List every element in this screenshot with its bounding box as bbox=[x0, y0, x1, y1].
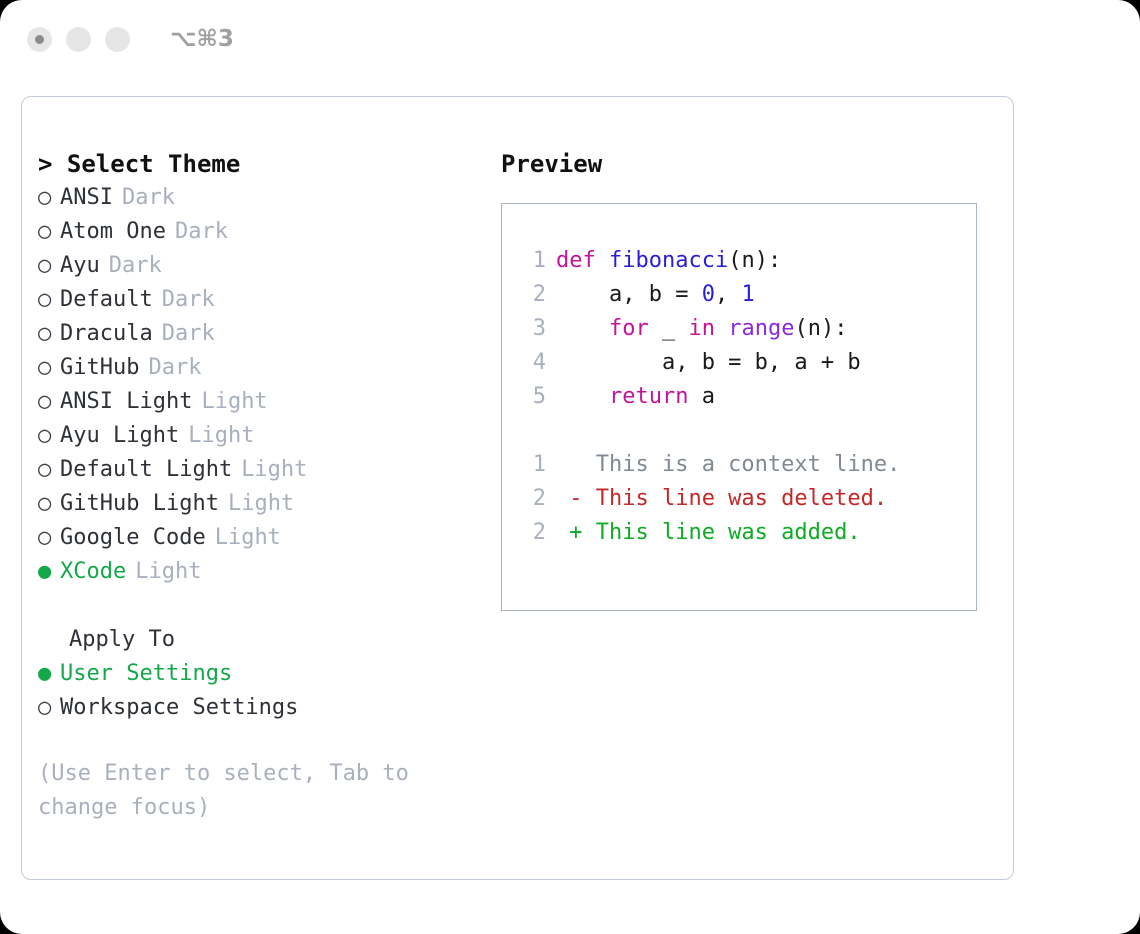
window-dot-3[interactable] bbox=[105, 27, 130, 52]
theme-variant-badge: Light bbox=[201, 385, 267, 419]
keyboard-hint: (Use Enter to select, Tab to change focu… bbox=[38, 757, 448, 825]
code-token: (n): bbox=[794, 316, 847, 341]
code-line: 1 This is a context line. bbox=[524, 448, 976, 482]
radio-unselected-icon: ○ bbox=[38, 351, 60, 385]
code-line: 2 - This line was deleted. bbox=[524, 482, 976, 516]
code-line-text: def fibonacci(n): bbox=[556, 244, 781, 278]
code-token: + This line was added. bbox=[556, 520, 861, 545]
theme-name: Ayu Light bbox=[60, 419, 179, 453]
apply-to-header: Apply To bbox=[38, 623, 488, 657]
line-number: 5 bbox=[524, 380, 546, 414]
theme-name: Google Code bbox=[60, 521, 206, 555]
code-line: 2 + This line was added. bbox=[524, 516, 976, 550]
code-token: , bbox=[715, 282, 742, 307]
theme-name: GitHub Light bbox=[60, 487, 219, 521]
theme-variant-badge: Dark bbox=[162, 283, 215, 317]
select-theme-header: > Select Theme bbox=[38, 147, 488, 181]
code-token: (n): bbox=[728, 248, 781, 273]
code-token: - This line was deleted. bbox=[556, 486, 887, 511]
theme-name: ANSI bbox=[60, 181, 113, 215]
radio-unselected-icon: ○ bbox=[38, 215, 60, 249]
line-number: 2 bbox=[524, 516, 546, 550]
code-blank-line bbox=[524, 414, 976, 448]
radio-unselected-icon: ○ bbox=[38, 181, 60, 215]
theme-name: XCode bbox=[60, 555, 126, 589]
window-dot-record[interactable] bbox=[27, 27, 52, 52]
theme-list-item[interactable]: ○Ayu LightLight bbox=[38, 419, 488, 453]
theme-variant-badge: Dark bbox=[148, 351, 201, 385]
radio-unselected-icon: ○ bbox=[38, 249, 60, 283]
line-number: 1 bbox=[524, 244, 546, 278]
theme-list: ○ANSIDark○Atom OneDark○AyuDark○DefaultDa… bbox=[38, 181, 488, 589]
radio-unselected-icon: ○ bbox=[38, 419, 60, 453]
theme-list-item[interactable]: ○DefaultDark bbox=[38, 283, 488, 317]
code-token bbox=[556, 384, 609, 409]
code-line-text: for _ in range(n): bbox=[556, 312, 847, 346]
theme-name: Default bbox=[60, 283, 153, 317]
theme-name: Atom One bbox=[60, 215, 166, 249]
code-line-text: This is a context line. bbox=[556, 448, 900, 482]
theme-list-item[interactable]: ○ANSIDark bbox=[38, 181, 488, 215]
shortcut-label: ⌥⌘3 bbox=[170, 26, 234, 52]
theme-selector-column: > Select Theme ○ANSIDark○Atom OneDark○Ay… bbox=[38, 147, 488, 825]
theme-list-item[interactable]: ○GitHubDark bbox=[38, 351, 488, 385]
line-number: 2 bbox=[524, 278, 546, 312]
theme-list-item[interactable]: ○AyuDark bbox=[38, 249, 488, 283]
code-token: return bbox=[609, 384, 688, 409]
code-token: 1 bbox=[741, 282, 754, 307]
code-line: 5 return a bbox=[524, 380, 976, 414]
code-token: range bbox=[728, 316, 794, 341]
theme-name: GitHub bbox=[60, 351, 139, 385]
window-dot-2[interactable] bbox=[66, 27, 91, 52]
code-token: def bbox=[556, 248, 596, 273]
theme-list-item[interactable]: ○GitHub LightLight bbox=[38, 487, 488, 521]
theme-variant-badge: Dark bbox=[175, 215, 228, 249]
code-token bbox=[556, 316, 609, 341]
theme-variant-badge: Light bbox=[135, 555, 201, 589]
code-preview: 1def fibonacci(n):2 a, b = 0, 13 for _ i… bbox=[524, 244, 976, 550]
theme-variant-badge: Dark bbox=[122, 181, 175, 215]
code-token: a, b = bbox=[556, 282, 702, 307]
radio-unselected-icon: ○ bbox=[38, 691, 60, 725]
code-token bbox=[715, 316, 728, 341]
record-indicator-icon bbox=[35, 35, 44, 44]
theme-list-item[interactable]: ○ANSI LightLight bbox=[38, 385, 488, 419]
theme-list-item[interactable]: ●XCodeLight bbox=[38, 555, 488, 589]
code-token: 0 bbox=[702, 282, 715, 307]
theme-name: Dracula bbox=[60, 317, 153, 351]
radio-unselected-icon: ○ bbox=[38, 453, 60, 487]
code-line-text: - This line was deleted. bbox=[556, 482, 887, 516]
code-line: 2 a, b = 0, 1 bbox=[524, 278, 976, 312]
preview-box: 1def fibonacci(n):2 a, b = 0, 13 for _ i… bbox=[501, 203, 977, 611]
theme-list-item[interactable]: ○Google CodeLight bbox=[38, 521, 488, 555]
apply-to-item[interactable]: ○Workspace Settings bbox=[38, 691, 488, 725]
code-token: a, b = b, a + b bbox=[556, 350, 861, 375]
code-token: for bbox=[609, 316, 649, 341]
preview-header: Preview bbox=[501, 147, 1001, 181]
theme-variant-badge: Light bbox=[215, 521, 281, 555]
preview-column: Preview 1def fibonacci(n):2 a, b = 0, 13… bbox=[501, 147, 1001, 611]
code-token: This is a context line. bbox=[556, 452, 900, 477]
titlebar: ⌥⌘3 bbox=[0, 0, 1140, 78]
line-number: 1 bbox=[524, 448, 546, 482]
radio-unselected-icon: ○ bbox=[38, 521, 60, 555]
code-token: in bbox=[688, 316, 715, 341]
apply-to-label: User Settings bbox=[60, 657, 232, 691]
list-spacer bbox=[38, 589, 488, 623]
apply-to-list: ●User Settings○Workspace Settings bbox=[38, 657, 488, 725]
radio-unselected-icon: ○ bbox=[38, 385, 60, 419]
theme-name: ANSI Light bbox=[60, 385, 192, 419]
radio-unselected-icon: ○ bbox=[38, 487, 60, 521]
app-window: ⌥⌘3 > Select Theme ○ANSIDark○Atom OneDar… bbox=[0, 0, 1140, 934]
code-line: 1def fibonacci(n): bbox=[524, 244, 976, 278]
theme-name: Default Light bbox=[60, 453, 232, 487]
line-number: 4 bbox=[524, 346, 546, 380]
radio-selected-icon: ● bbox=[38, 657, 60, 691]
theme-list-item[interactable]: ○DraculaDark bbox=[38, 317, 488, 351]
theme-name: Ayu bbox=[60, 249, 100, 283]
theme-variant-badge: Light bbox=[188, 419, 254, 453]
apply-to-item[interactable]: ●User Settings bbox=[38, 657, 488, 691]
code-token: _ bbox=[649, 316, 689, 341]
theme-variant-badge: Light bbox=[241, 453, 307, 487]
code-line-text: + This line was added. bbox=[556, 516, 861, 550]
theme-list-item[interactable]: ○Default LightLight bbox=[38, 453, 488, 487]
theme-variant-badge: Dark bbox=[109, 249, 162, 283]
code-line: 4 a, b = b, a + b bbox=[524, 346, 976, 380]
code-line-text: a, b = b, a + b bbox=[556, 346, 861, 380]
window-controls bbox=[27, 27, 130, 52]
code-line-text: return a bbox=[556, 380, 715, 414]
main-panel: > Select Theme ○ANSIDark○Atom OneDark○Ay… bbox=[21, 96, 1014, 880]
line-number: 3 bbox=[524, 312, 546, 346]
code-token: fibonacci bbox=[609, 248, 728, 273]
apply-to-label: Workspace Settings bbox=[60, 691, 298, 725]
code-token: a bbox=[688, 384, 715, 409]
theme-variant-badge: Dark bbox=[162, 317, 215, 351]
code-line: 3 for _ in range(n): bbox=[524, 312, 976, 346]
theme-list-item[interactable]: ○Atom OneDark bbox=[38, 215, 488, 249]
code-token bbox=[596, 248, 609, 273]
radio-selected-icon: ● bbox=[38, 555, 60, 589]
line-number: 2 bbox=[524, 482, 546, 516]
radio-unselected-icon: ○ bbox=[38, 317, 60, 351]
radio-unselected-icon: ○ bbox=[38, 283, 60, 317]
theme-variant-badge: Light bbox=[228, 487, 294, 521]
code-line-text: a, b = 0, 1 bbox=[556, 278, 755, 312]
